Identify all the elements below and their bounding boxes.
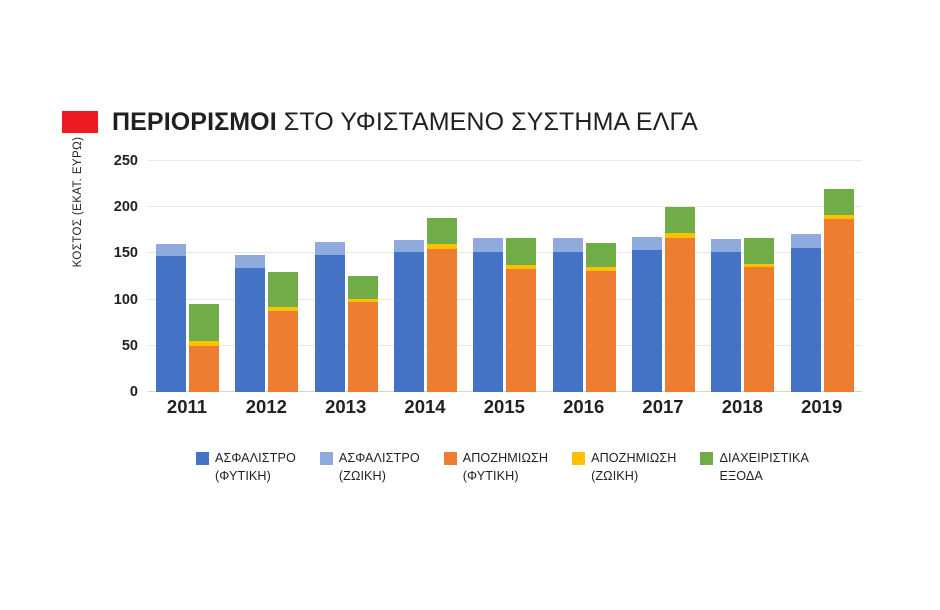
bar-group[interactable]: [235, 161, 314, 392]
bar-left[interactable]: [394, 240, 424, 392]
bar-right[interactable]: [348, 276, 378, 392]
bar-segment[interactable]: [348, 276, 378, 299]
plot-area: [148, 161, 862, 392]
legend-label: ΑΠΟΖΗΜΙΩΣΗ (ΦΥΤΙΚΗ): [463, 450, 548, 486]
bar-segment[interactable]: [791, 234, 821, 248]
legend-label: ΔΙΑΧΕΙΡΙΣΤΙΚΑ ΕΞΟΔΑ: [719, 450, 809, 486]
legend-item[interactable]: ΑΣΦΑΛΙΣΤΡΟ (ΖΩΙΚΗ): [320, 450, 420, 486]
legend-item[interactable]: ΑΠΟΖΗΜΙΩΣΗ (ΦΥΤΙΚΗ): [444, 450, 548, 486]
legend-swatch: [700, 452, 713, 465]
bar-segment[interactable]: [586, 271, 616, 392]
bar-segment[interactable]: [394, 240, 424, 253]
bar-segment[interactable]: [711, 239, 741, 252]
bar-left[interactable]: [711, 239, 741, 392]
bar-segment[interactable]: [744, 267, 774, 392]
bar-segment[interactable]: [711, 252, 741, 392]
bar-left[interactable]: [632, 237, 662, 392]
y-tick-label: 100: [92, 292, 138, 308]
bar-right[interactable]: [427, 218, 457, 392]
legend-swatch: [444, 452, 457, 465]
bar-segment[interactable]: [189, 304, 219, 341]
bar-left[interactable]: [235, 255, 265, 392]
y-tick-label: 50: [92, 338, 138, 354]
bar-segment[interactable]: [427, 249, 457, 392]
bar-segment[interactable]: [268, 272, 298, 307]
legend-item[interactable]: ΔΙΑΧΕΙΡΙΣΤΙΚΑ ΕΞΟΔΑ: [700, 450, 809, 486]
y-tick-label: 250: [92, 153, 138, 169]
bar-left[interactable]: [473, 238, 503, 392]
bar-segment[interactable]: [506, 238, 536, 265]
y-tick-label: 200: [92, 199, 138, 215]
bar-segment[interactable]: [791, 248, 821, 392]
bar-right[interactable]: [189, 304, 219, 392]
bar-segment[interactable]: [553, 252, 583, 392]
bar-segment[interactable]: [394, 252, 424, 392]
bar-group[interactable]: [791, 161, 870, 392]
x-tick-label: 2019: [767, 396, 877, 418]
chart-page: ΠΕΡΙΟΡΙΣΜΟΙ ΣΤΟ ΥΦΙΣΤΑΜΕΝΟ ΣΥΣΤΗΜΑ ΕΛΓΑ …: [0, 0, 940, 610]
y-axis-tick-labels: 050100150200250: [92, 161, 138, 392]
legend-swatch: [320, 452, 333, 465]
legend-swatch: [196, 452, 209, 465]
bar-segment[interactable]: [473, 238, 503, 252]
bar-segment[interactable]: [235, 268, 265, 392]
bar-segment[interactable]: [632, 250, 662, 392]
bar-group[interactable]: [473, 161, 552, 392]
bar-segment[interactable]: [268, 311, 298, 392]
bar-right[interactable]: [744, 238, 774, 392]
bar-group[interactable]: [553, 161, 632, 392]
legend-item[interactable]: ΑΠΟΖΗΜΙΩΣΗ (ΖΩΙΚΗ): [572, 450, 676, 486]
y-tick-label: 150: [92, 245, 138, 261]
bar-segment[interactable]: [156, 244, 186, 256]
bar-segment[interactable]: [315, 255, 345, 392]
chart-legend: ΑΣΦΑΛΙΣΤΡΟ (ΦΥΤΙΚΗ)ΑΣΦΑΛΙΣΤΡΟ (ΖΩΙΚΗ)ΑΠΟ…: [196, 450, 809, 486]
legend-label: ΑΣΦΑΛΙΣΤΡΟ (ΖΩΙΚΗ): [339, 450, 420, 486]
y-axis-title: ΚΟΣΤΟΣ (ΕΚΑΤ. ΕΥΡΩ): [72, 112, 84, 292]
legend-label: ΑΠΟΖΗΜΙΩΣΗ (ΖΩΙΚΗ): [591, 450, 676, 486]
bar-segment[interactable]: [744, 238, 774, 264]
bar-segment[interactable]: [315, 242, 345, 255]
legend-label: ΑΣΦΑΛΙΣΤΡΟ (ΦΥΤΙΚΗ): [215, 450, 296, 486]
bar-segment[interactable]: [665, 238, 695, 392]
bar-segment[interactable]: [156, 256, 186, 392]
bar-right[interactable]: [586, 243, 616, 392]
bar-group[interactable]: [315, 161, 394, 392]
bar-right[interactable]: [506, 238, 536, 392]
bar-segment[interactable]: [473, 252, 503, 392]
bar-segment[interactable]: [189, 346, 219, 392]
bar-group[interactable]: [711, 161, 790, 392]
legend-item[interactable]: ΑΣΦΑΛΙΣΤΡΟ (ΦΥΤΙΚΗ): [196, 450, 296, 486]
legend-swatch: [572, 452, 585, 465]
bar-left[interactable]: [791, 234, 821, 392]
bar-group[interactable]: [394, 161, 473, 392]
bar-group[interactable]: [632, 161, 711, 392]
bar-left[interactable]: [315, 242, 345, 392]
bar-segment[interactable]: [824, 189, 854, 215]
bar-segment[interactable]: [665, 207, 695, 233]
bar-group[interactable]: [156, 161, 235, 392]
bar-left[interactable]: [156, 244, 186, 392]
bar-segment[interactable]: [235, 255, 265, 268]
bar-segment[interactable]: [348, 302, 378, 392]
bar-right[interactable]: [268, 272, 298, 392]
bar-chart: ΚΟΣΤΟΣ (ΕΚΑΤ. ΕΥΡΩ) 050100150200250 2011…: [0, 0, 940, 610]
bar-segment[interactable]: [506, 269, 536, 392]
bar-segment[interactable]: [553, 238, 583, 253]
bar-segment[interactable]: [427, 218, 457, 244]
bar-segment[interactable]: [824, 219, 854, 392]
bar-left[interactable]: [553, 238, 583, 392]
bar-right[interactable]: [665, 207, 695, 392]
bar-segment[interactable]: [632, 237, 662, 250]
bar-segment[interactable]: [586, 243, 616, 267]
bar-right[interactable]: [824, 189, 854, 392]
